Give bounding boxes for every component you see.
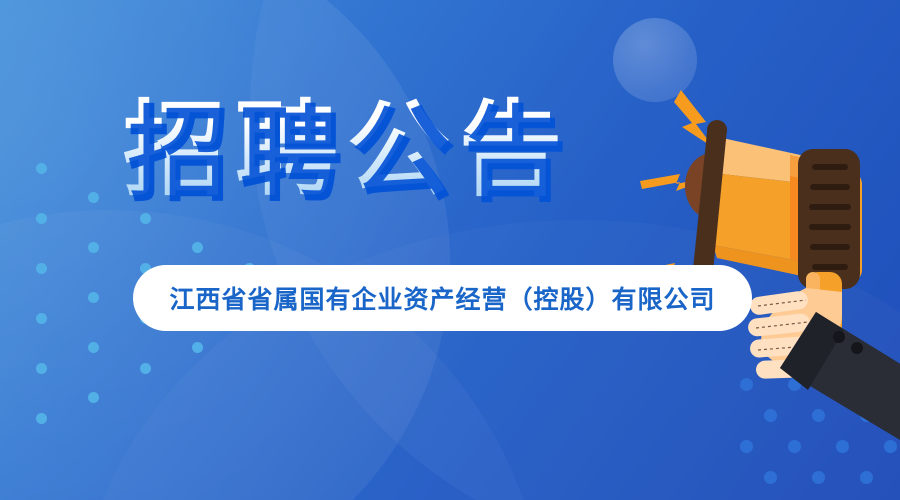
decorative-dot [88, 342, 99, 353]
decorative-dot [764, 409, 777, 422]
decorative-dot [36, 313, 47, 324]
decorative-dot [36, 363, 47, 374]
decorative-dot [836, 440, 849, 453]
decorative-dot [740, 440, 753, 453]
decorative-dot [192, 242, 203, 253]
company-name-text: 江西省省属国有企业资产经营（控股）有限公司 [169, 280, 715, 316]
decorative-dot [884, 440, 897, 453]
page-title-text: 招聘公告 [114, 96, 571, 204]
decorative-dot [88, 242, 99, 253]
decorative-dot [36, 413, 47, 424]
decorative-dot [860, 471, 873, 484]
decorative-dot [140, 213, 151, 224]
recruitment-announcement-banner: 招聘公告 招聘公告 江西省省属国有企业资产经营（控股）有限公司 [0, 0, 900, 500]
decorative-dot [36, 213, 47, 224]
decorative-dot [88, 292, 99, 303]
background-blob-upper-left [0, 0, 450, 500]
decorative-dot [788, 440, 801, 453]
decorative-dot [140, 363, 151, 374]
company-name-pill: 江西省省属国有企业资产经营（控股）有限公司 [133, 265, 752, 331]
decorative-dot [812, 409, 825, 422]
decorative-dot [812, 471, 825, 484]
megaphone-hand-illustration [630, 60, 900, 380]
decorative-dot [764, 471, 777, 484]
decorative-dot [192, 342, 203, 353]
megaphone-grip [798, 149, 860, 289]
decorative-dot [88, 392, 99, 403]
decorative-dot [36, 263, 47, 274]
background-wave-lower-left [0, 210, 550, 500]
